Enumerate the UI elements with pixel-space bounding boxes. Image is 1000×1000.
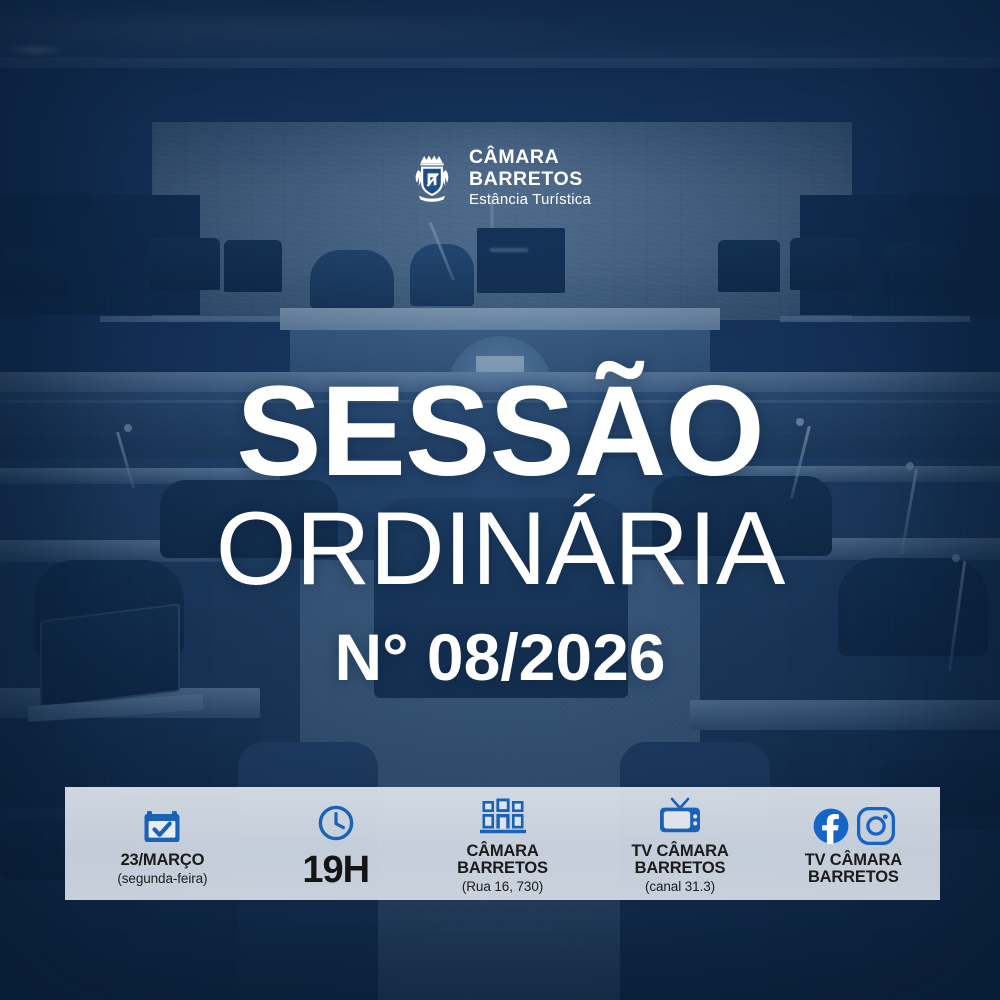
brand-line-3: Estância Turística: [469, 192, 591, 207]
instagram-icon[interactable]: [857, 807, 895, 845]
title-line-ordinaria: ORDINÁRIA: [0, 496, 1000, 602]
building-icon: [480, 796, 526, 838]
place-label-line2: BARRETOS: [457, 860, 548, 877]
coat-of-arms-icon: [409, 152, 455, 204]
title-line-number: N° 08/2026: [0, 624, 1000, 690]
poster-title: SESSÃO ORDINÁRIA N° 08/2026: [0, 372, 1000, 690]
calendar-check-icon: [141, 805, 183, 847]
brand-logo: CÂMARA BARRETOS Estância Turística: [0, 148, 1000, 207]
brand-line-1: CÂMARA: [469, 148, 591, 168]
facebook-icon[interactable]: [812, 807, 850, 845]
title-line-sessao: SESSÃO: [0, 372, 1000, 492]
brand-logo-text: CÂMARA BARRETOS Estância Turística: [469, 148, 591, 207]
info-cell-time: 19H: [260, 787, 412, 900]
info-cell-social: TV CÂMARA BARRETOS: [767, 787, 940, 900]
info-cell-date: 23/MARÇO (segunda-feira): [65, 787, 260, 900]
date-weekday: (segunda-feira): [117, 871, 207, 887]
tv-label-line2: BARRETOS: [635, 860, 726, 877]
television-icon: [657, 796, 703, 838]
social-icons-row: [812, 805, 895, 847]
info-bar: 23/MARÇO (segunda-feira) 19H: [65, 787, 940, 900]
clock-icon: [316, 802, 356, 844]
tv-label-line1: TV CÂMARA: [631, 843, 728, 860]
poster-canvas: CÂMARA BARRETOS Estância Turística SESSÃ…: [0, 0, 1000, 1000]
tv-channel: (canal 31.3): [645, 879, 715, 895]
social-label-line2: BARRETOS: [808, 869, 899, 886]
info-cell-tv: TV CÂMARA BARRETOS (canal 31.3): [593, 787, 766, 900]
brand-line-2: BARRETOS: [469, 170, 591, 190]
info-cell-place: CÂMARA BARRETOS (Rua 16, 730): [412, 787, 594, 900]
date-label: 23/MARÇO: [121, 852, 205, 869]
social-label-line1: TV CÂMARA: [805, 852, 902, 869]
time-label: 19H: [302, 851, 369, 889]
place-address: (Rua 16, 730): [462, 879, 543, 895]
place-label-line1: CÂMARA: [466, 843, 538, 860]
